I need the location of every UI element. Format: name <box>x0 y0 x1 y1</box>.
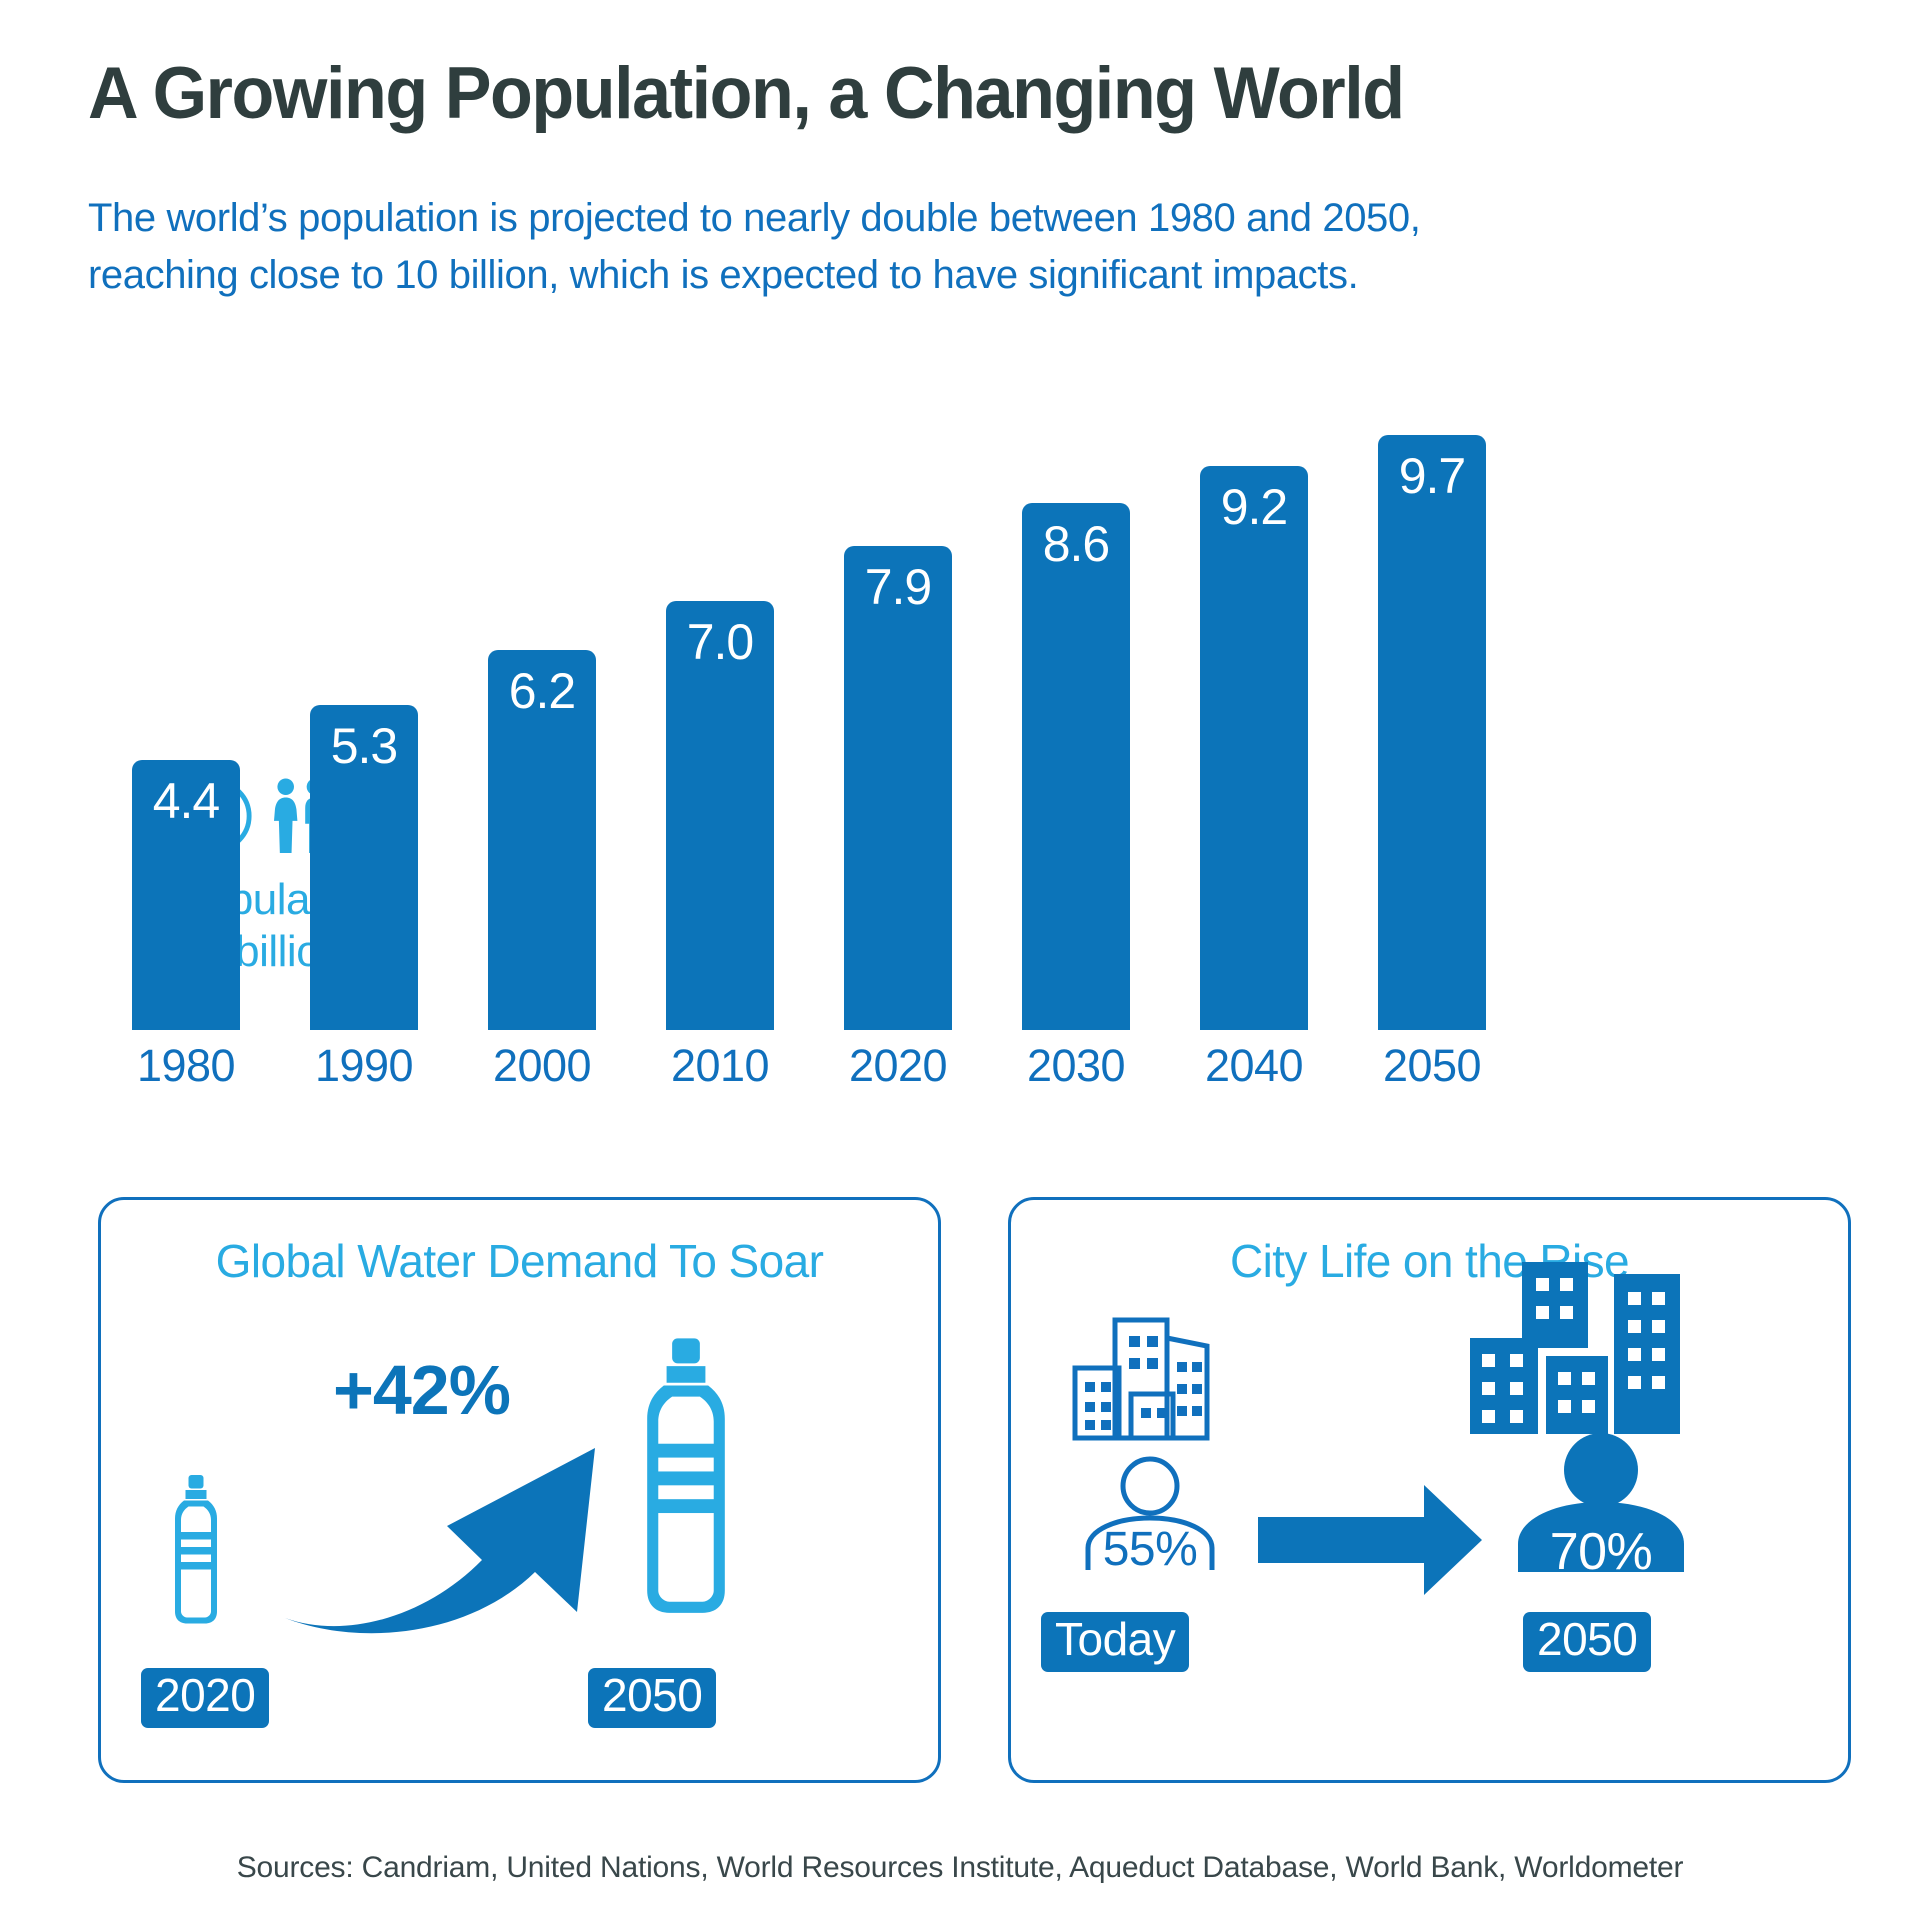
bar: 5.3 <box>310 705 418 1030</box>
bar-value-label: 8.6 <box>1022 515 1130 573</box>
bar: 6.2 <box>488 650 596 1030</box>
bar: 7.9 <box>844 546 952 1030</box>
page-subtitle: The world’s population is projected to n… <box>88 190 1848 304</box>
water-right-year-badge: 2050 <box>588 1668 716 1728</box>
city-today-percentage: 55% <box>1067 1522 1233 1577</box>
bar-group: 8.6 <box>1022 503 1130 1030</box>
bar-value-label: 7.9 <box>844 558 952 616</box>
right-arrow-icon <box>1258 1485 1482 1600</box>
bar-group: 6.2 <box>488 650 596 1030</box>
bar-value-label: 4.4 <box>132 772 240 830</box>
x-axis-tick-label: 2050 <box>1352 1040 1512 1092</box>
x-axis-tick-label: 2000 <box>462 1040 622 1092</box>
curved-up-arrow-icon <box>277 1440 607 1645</box>
bar-value-label: 7.0 <box>666 613 774 671</box>
bar-value-label: 5.3 <box>310 717 418 775</box>
city-buildings-solid-icon <box>1466 1262 1684 1447</box>
page-title: A Growing Population, a Changing World <box>88 52 1404 135</box>
city-today-badge: Today <box>1041 1612 1189 1672</box>
bar-value-label: 9.7 <box>1378 447 1486 505</box>
panel-city-title: City Life on the Rise <box>1011 1234 1848 1288</box>
bar-group: 7.9 <box>844 546 952 1030</box>
city-buildings-outline-icon <box>1071 1316 1231 1449</box>
subtitle-line-2: reaching close to 10 billion, which is e… <box>88 247 1848 304</box>
subtitle-line-1: The world’s population is projected to n… <box>88 190 1848 247</box>
x-axis-tick-label: 1980 <box>106 1040 266 1092</box>
x-axis-tick-label: 2040 <box>1174 1040 1334 1092</box>
bar-group: 5.3 <box>310 705 418 1030</box>
bar-group: 9.7 <box>1378 435 1486 1030</box>
x-axis-tick-label: 2010 <box>640 1040 800 1092</box>
bar: 9.2 <box>1200 466 1308 1030</box>
chart-x-axis-labels: 19801990200020102020203020402050 <box>0 1040 1920 1110</box>
x-axis-tick-label: 1990 <box>284 1040 444 1092</box>
bar-group: 7.0 <box>666 601 774 1030</box>
panel-global-water-demand: Global Water Demand To Soar <box>98 1197 941 1783</box>
bar: 7.0 <box>666 601 774 1030</box>
water-demand-change-value: +42% <box>333 1350 510 1430</box>
x-axis-tick-label: 2020 <box>818 1040 978 1092</box>
x-axis-tick-label: 2030 <box>996 1040 1156 1092</box>
city-2050-badge: 2050 <box>1523 1612 1651 1672</box>
chart-bars: 4.45.36.27.07.98.69.29.7 <box>0 380 1920 1030</box>
water-left-year-badge: 2020 <box>141 1668 269 1728</box>
water-bottle-small-icon <box>163 1475 229 1630</box>
bar-group: 9.2 <box>1200 466 1308 1030</box>
population-bar-chart: Population (in billions) 4.45.36.27.07.9… <box>0 380 1920 1100</box>
sources-text: Sources: Candriam, United Nations, World… <box>0 1851 1920 1885</box>
infographic-page: A Growing Population, a Changing World T… <box>0 0 1920 1920</box>
bar: 4.4 <box>132 760 240 1030</box>
bar-group: 4.4 <box>132 760 240 1030</box>
bar-value-label: 9.2 <box>1200 478 1308 536</box>
city-2050-percentage: 70% <box>1506 1522 1696 1582</box>
bar: 8.6 <box>1022 503 1130 1030</box>
panel-city-life: City Life on the Rise <box>1008 1197 1851 1783</box>
bar: 9.7 <box>1378 435 1486 1030</box>
bar-value-label: 6.2 <box>488 662 596 720</box>
water-bottle-large-icon <box>625 1338 747 1621</box>
panel-water-title: Global Water Demand To Soar <box>101 1234 938 1288</box>
